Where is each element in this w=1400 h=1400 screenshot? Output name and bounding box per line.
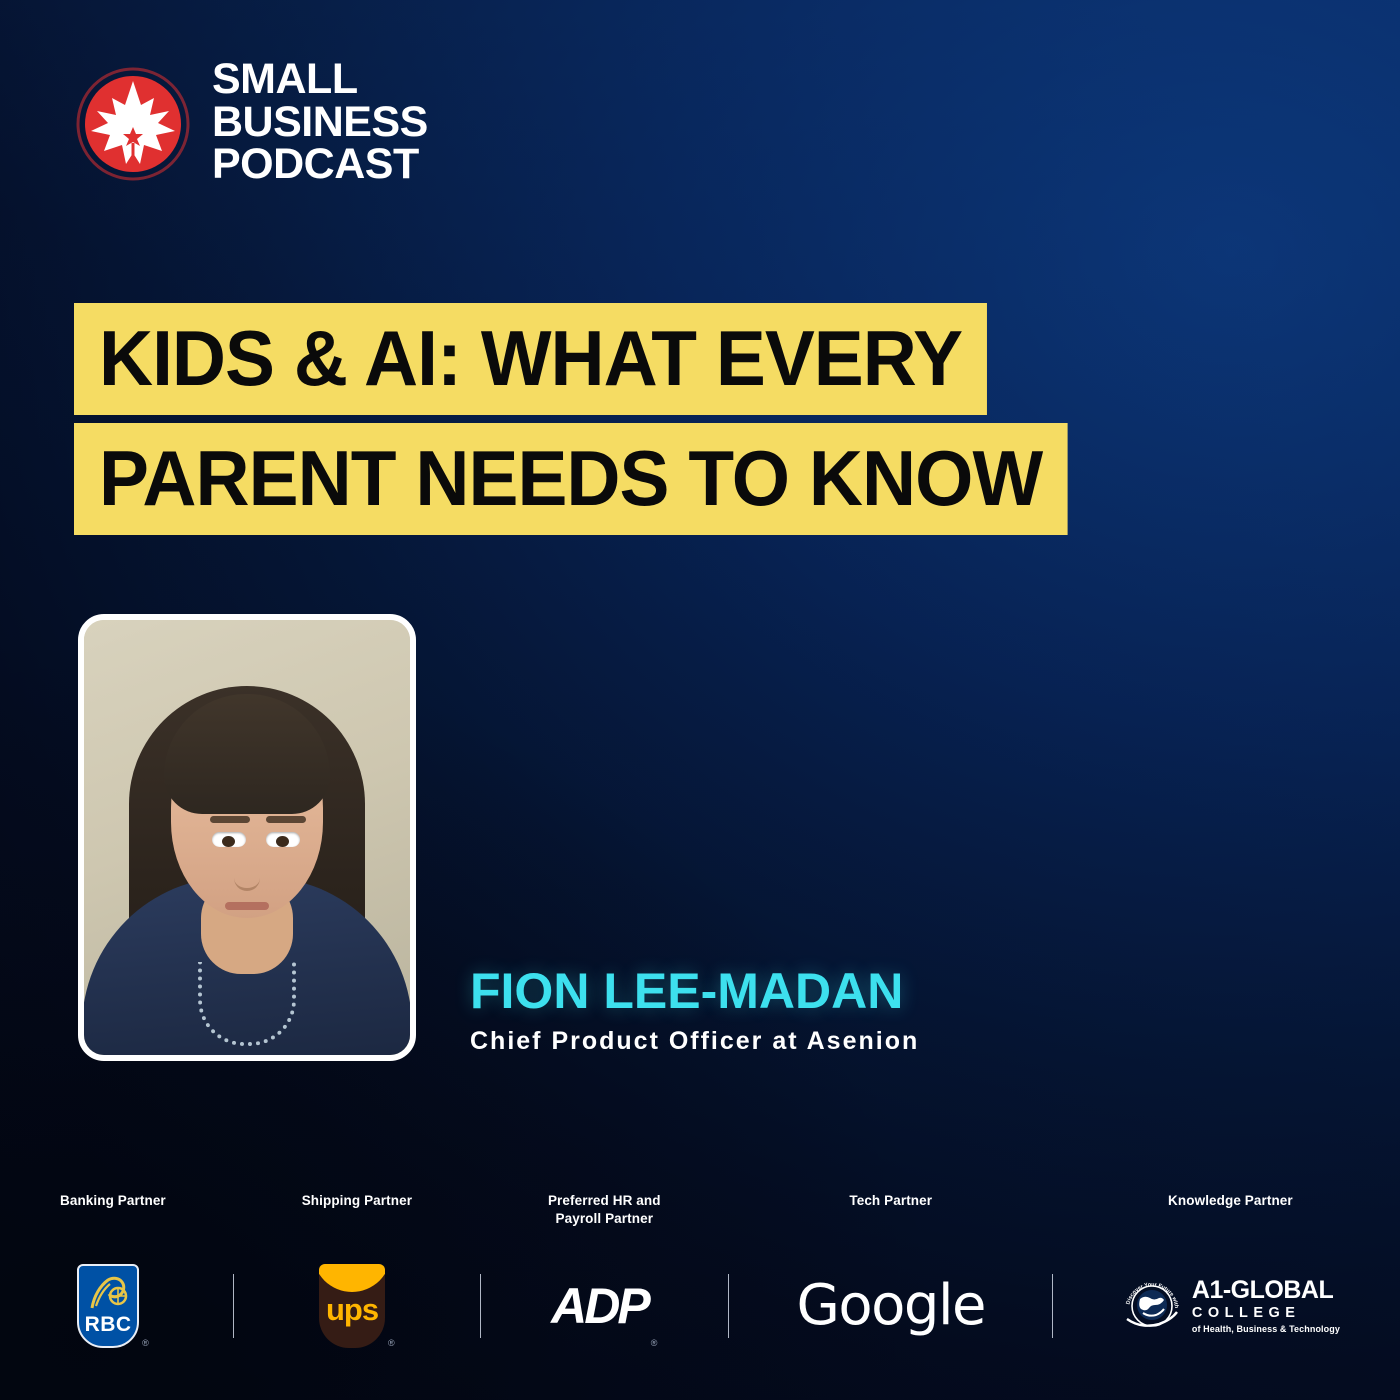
partner-label-banking: Banking Partner: [60, 1192, 166, 1232]
rbc-logo: RBC ®: [77, 1260, 149, 1352]
brand-word-3: PODCAST: [212, 143, 428, 186]
podcast-episode-graphic: SMALL BUSINESS PODCAST KIDS & AI: WHAT E…: [0, 0, 1400, 1400]
a1-global-wordmark: A1-GLOBAL COLLEGE of Health, Business & …: [1192, 1278, 1340, 1334]
partner-label-knowledge: Knowledge Partner: [1168, 1192, 1293, 1232]
a1-global-name: A1-GLOBAL: [1192, 1278, 1340, 1303]
partner-divider-4: [1052, 1274, 1053, 1338]
partner-label-tech: Tech Partner: [849, 1192, 932, 1232]
partner-divider-1: [233, 1274, 234, 1338]
partner-label-shipping: Shipping Partner: [302, 1192, 412, 1232]
rbc-wordmark: RBC: [85, 1313, 132, 1337]
partner-divider-3: [728, 1274, 729, 1338]
partner-knowledge: Knowledge Partner: [1121, 1192, 1340, 1352]
partner-shipping: Shipping Partner ups ®: [302, 1192, 412, 1352]
brand-wordmark: SMALL BUSINESS PODCAST: [212, 58, 428, 190]
a1-global-college-logo: Discover Your Future with Us A1-GLOBAL C…: [1121, 1260, 1340, 1352]
episode-title: KIDS & AI: WHAT EVERY PARENT NEEDS TO KN…: [74, 303, 1109, 535]
adp-wordmark: ADP: [551, 1281, 648, 1331]
globe-icon: Discover Your Future with Us: [1121, 1275, 1183, 1337]
partner-banking: Banking Partner RBC ®: [60, 1192, 166, 1352]
maple-leaf-roundel-icon: [74, 65, 192, 183]
partner-hr-payroll: Preferred HR and Payroll Partner ADP ®: [548, 1192, 661, 1352]
partners-bar: Banking Partner RBC ®: [60, 1192, 1340, 1352]
rbc-lion-globe-icon: [86, 1274, 130, 1312]
guest-photo-image: [84, 620, 410, 1055]
guest-photo: [78, 614, 416, 1061]
brand-word-1: SMALL: [212, 58, 428, 101]
a1-global-tagline: of Health, Business & Technology: [1192, 1325, 1340, 1334]
google-logo: Google: [797, 1260, 985, 1352]
rbc-registered-mark: ®: [142, 1338, 149, 1348]
ups-wordmark: ups: [326, 1292, 378, 1328]
brand-logo: SMALL BUSINESS PODCAST: [74, 58, 428, 190]
guest-role: Chief Product Officer at Asenion: [470, 1027, 919, 1056]
ups-registered-mark: ®: [388, 1338, 395, 1348]
partner-tech: Tech Partner Google: [797, 1192, 985, 1352]
partner-divider-2: [480, 1274, 481, 1338]
google-wordmark: Google: [797, 1278, 985, 1334]
guest-name: FION LEE-MADAN: [470, 965, 919, 1018]
guest-info: FION LEE-MADAN Chief Product Officer at …: [470, 965, 919, 1056]
a1-global-college-word: COLLEGE: [1192, 1306, 1340, 1321]
adp-registered-mark: ®: [651, 1338, 658, 1348]
partner-label-hr-payroll: Preferred HR and Payroll Partner: [548, 1192, 661, 1232]
brand-word-2: BUSINESS: [212, 101, 428, 144]
adp-logo: ADP ®: [551, 1260, 657, 1352]
ups-logo: ups ®: [319, 1260, 395, 1352]
episode-title-line-2: PARENT NEEDS TO KNOW: [74, 423, 1067, 535]
episode-title-line-1: KIDS & AI: WHAT EVERY: [74, 303, 987, 415]
